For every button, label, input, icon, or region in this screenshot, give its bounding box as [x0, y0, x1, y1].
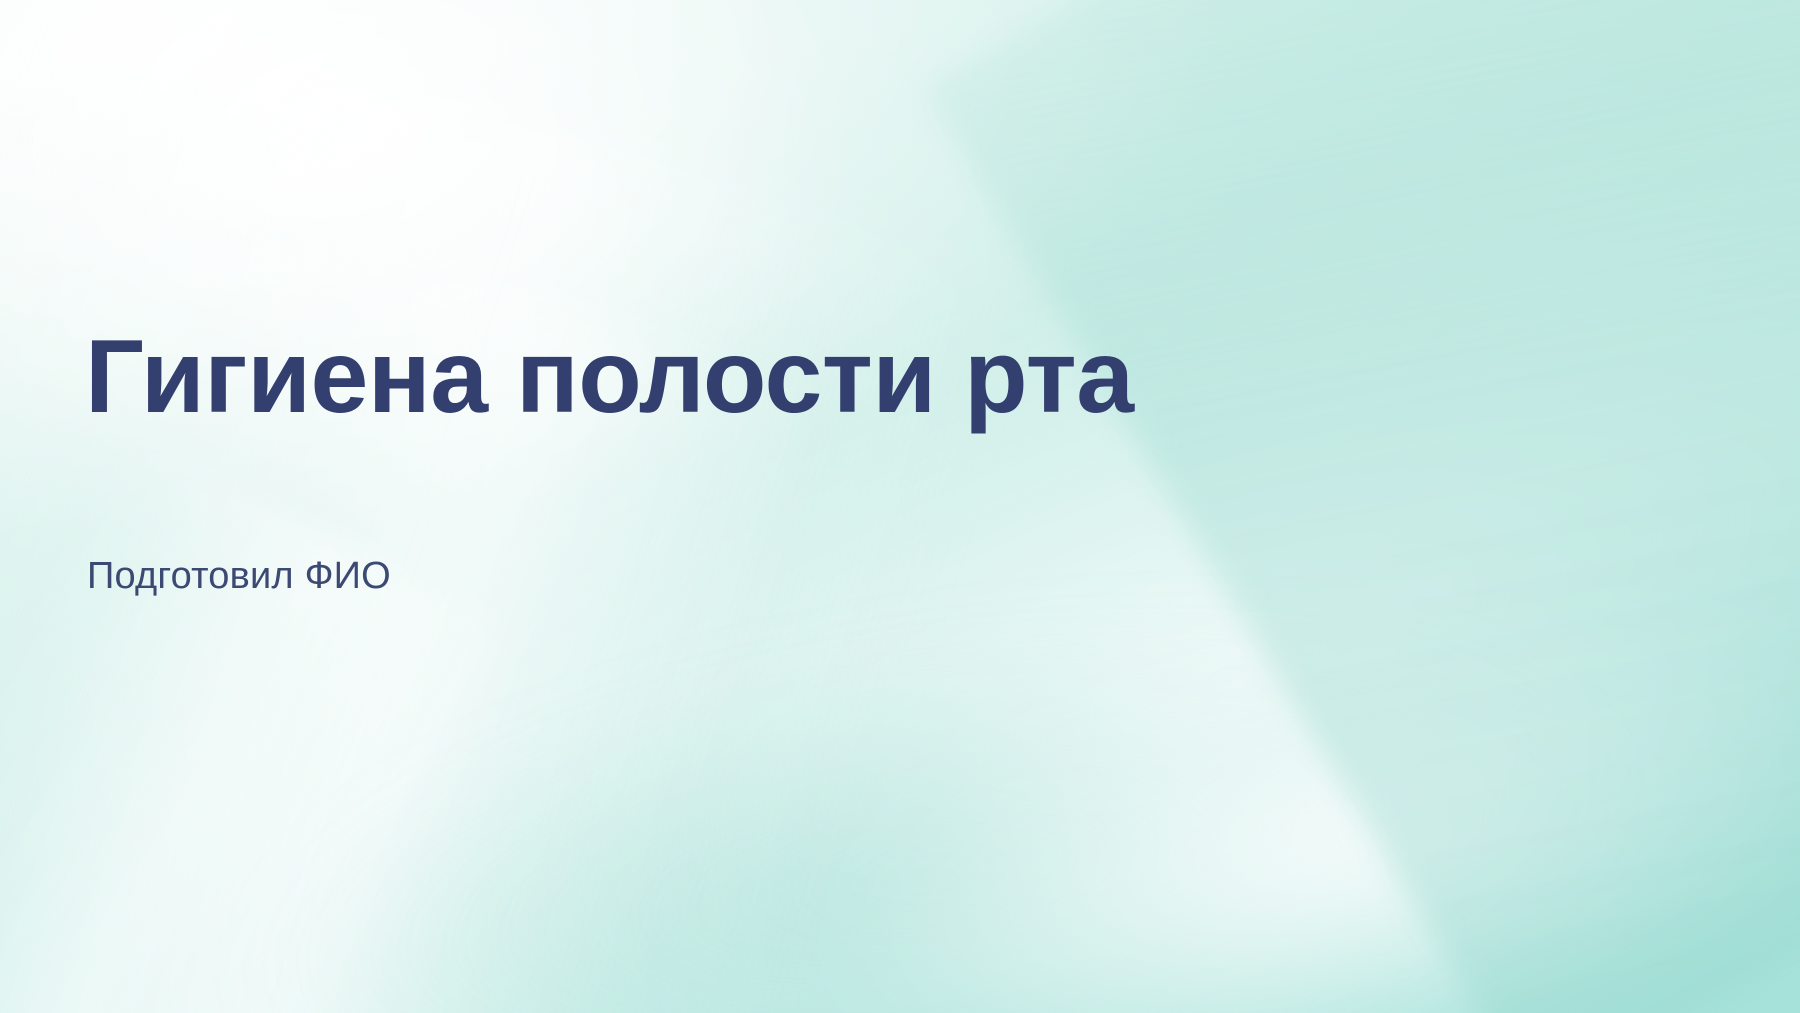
- presentation-slide: Гигиена полости рта Подготовил ФИО: [0, 0, 1800, 1013]
- slide-content: Гигиена полости рта Подготовил ФИО: [85, 0, 1485, 1013]
- slide-subtitle-author: Подготовил ФИО: [87, 554, 391, 600]
- slide-title: Гигиена полости рта: [85, 325, 1134, 429]
